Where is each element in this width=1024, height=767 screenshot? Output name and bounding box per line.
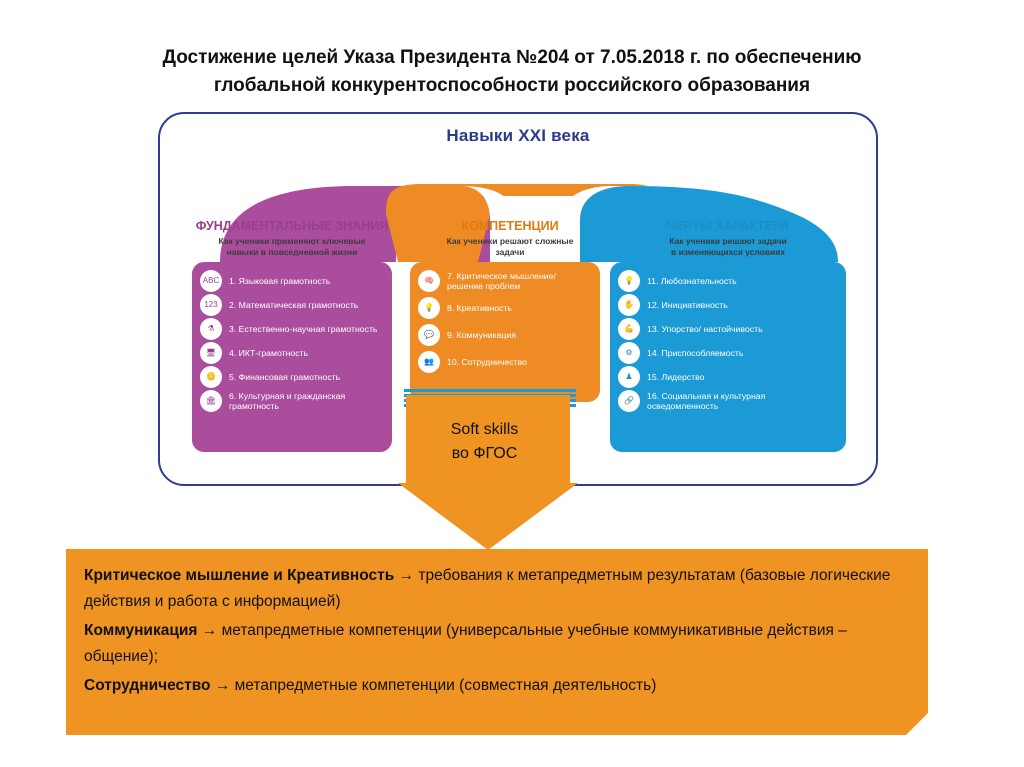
list-item: 🔗 16. Социальная и культурная осведомлен… bbox=[618, 390, 838, 412]
column-fundamental-subtitle: Как ученики применяют ключевые навыки в … bbox=[192, 236, 392, 258]
list-item: 👥 10. Сотрудничество bbox=[418, 351, 592, 373]
soft-skills-callout: Soft skills во ФГОС bbox=[402, 418, 567, 466]
corner-fold bbox=[906, 713, 928, 735]
bottom-paragraph-3-rest: метапредметные компетенции (совместная д… bbox=[235, 677, 657, 694]
list-item: ⚙ 14. Приспособляемость bbox=[618, 342, 838, 364]
list-item: 💬 9. Коммуникация bbox=[418, 324, 592, 346]
list-item: 💪 13. Упорство/ настойчивость bbox=[618, 318, 838, 340]
brain-icon: 🧠 bbox=[418, 270, 440, 292]
abc-icon: ABC bbox=[200, 270, 222, 292]
column-competence: КОМПЕТЕНЦИИ Как ученики решают сложные з… bbox=[410, 219, 610, 258]
arrow-glyph: → bbox=[394, 567, 418, 584]
column-character: ЧЕРТЫ ХАРАКТЕРА Как ученики решают задач… bbox=[610, 219, 846, 258]
column-competence-title: КОМПЕТЕНЦИИ bbox=[410, 219, 610, 233]
panel-competence: 🧠 7. Критическое мышление/ решение пробл… bbox=[410, 262, 600, 402]
bottom-paragraph-2: Коммуникация → метапредметные компетенци… bbox=[84, 618, 910, 670]
flask-icon: ⚗ bbox=[200, 318, 222, 340]
bottom-paragraph-3-bold: Сотрудничество bbox=[84, 677, 211, 694]
bottom-paragraph-1-bold: Критическое мышление и Креативность bbox=[84, 567, 394, 584]
arrow-glyph: → bbox=[211, 677, 235, 694]
slide-title-line2: глобальной конкурентоспособности российс… bbox=[214, 75, 810, 96]
list-item: 🏛 6. Культурная и гражданская грамотност… bbox=[200, 390, 384, 412]
bottom-paragraph-3: Сотрудничество → метапредметные компетен… bbox=[84, 673, 910, 699]
bulb-icon: 💡 bbox=[418, 297, 440, 319]
column-fundamental-title: ФУНДАМЕНТАЛЬНЫЕ ЗНАНИЯ bbox=[192, 219, 392, 233]
hand-icon: ✋ bbox=[618, 294, 640, 316]
soft-skills-line1: Soft skills bbox=[402, 418, 567, 442]
column-character-title: ЧЕРТЫ ХАРАКТЕРА bbox=[610, 219, 846, 233]
muscle-icon: 💪 bbox=[618, 318, 640, 340]
lightbulb-icon: 💡 bbox=[618, 270, 640, 292]
list-item: ✋ 12. Инициативность bbox=[618, 294, 838, 316]
diagram-heading: Навыки XXI века bbox=[160, 126, 876, 146]
numbers-icon: 123 bbox=[200, 294, 222, 316]
arrow-glyph: → bbox=[197, 622, 221, 639]
list-item: 🖥 4. ИКТ-грамотность bbox=[200, 342, 384, 364]
column-fundamental-head: ФУНДАМЕНТАЛЬНЫЕ ЗНАНИЯ Как ученики приме… bbox=[192, 219, 392, 258]
leader-icon: ♟ bbox=[618, 366, 640, 388]
chat-icon: 💬 bbox=[418, 324, 440, 346]
list-item: 🪙 5. Финансовая грамотность bbox=[200, 366, 384, 388]
list-item: 💡 8. Креативность bbox=[418, 297, 592, 319]
coins-icon: 🪙 bbox=[200, 366, 222, 388]
list-item: ♟ 15. Лидерство bbox=[618, 366, 838, 388]
column-character-head: ЧЕРТЫ ХАРАКТЕРА Как ученики решают задач… bbox=[610, 219, 846, 258]
bottom-panel: Критическое мышление и Креативность → тр… bbox=[66, 549, 928, 735]
column-competence-subtitle: Как ученики решают сложные задачи bbox=[410, 236, 610, 258]
list-item: 🧠 7. Критическое мышление/ решение пробл… bbox=[418, 270, 592, 292]
people-icon: 👥 bbox=[418, 351, 440, 373]
column-competence-head: КОМПЕТЕНЦИИ Как ученики решают сложные з… bbox=[410, 219, 610, 258]
column-character-subtitle: Как ученики решают задачи в изменяющихся… bbox=[610, 236, 846, 258]
soft-skills-line2: во ФГОС bbox=[402, 442, 567, 466]
slide-title-line1: Достижение целей Указа Президента №204 о… bbox=[162, 47, 861, 68]
panel-character: 💡 11. Любознательность ✋ 12. Инициативно… bbox=[610, 262, 846, 452]
list-item: 123 2. Математическая грамотность bbox=[200, 294, 384, 316]
bank-icon: 🏛 bbox=[200, 390, 222, 412]
list-item: ABC 1. Языковая грамотность bbox=[200, 270, 384, 292]
list-item: 💡 11. Любознательность bbox=[618, 270, 838, 292]
bottom-paragraph-1: Критическое мышление и Креативность → тр… bbox=[84, 563, 910, 615]
column-fundamental: ФУНДАМЕНТАЛЬНЫЕ ЗНАНИЯ Как ученики приме… bbox=[192, 219, 392, 258]
bottom-paragraph-2-bold: Коммуникация bbox=[84, 622, 197, 639]
panel-fundamental: ABC 1. Языковая грамотность 123 2. Матем… bbox=[192, 262, 392, 452]
gear-icon: ⚙ bbox=[618, 342, 640, 364]
slide-title: Достижение целей Указа Президента №204 о… bbox=[90, 44, 934, 100]
monitor-icon: 🖥 bbox=[200, 342, 222, 364]
list-item: ⚗ 3. Естественно-научная грамотность bbox=[200, 318, 384, 340]
network-icon: 🔗 bbox=[618, 390, 640, 412]
